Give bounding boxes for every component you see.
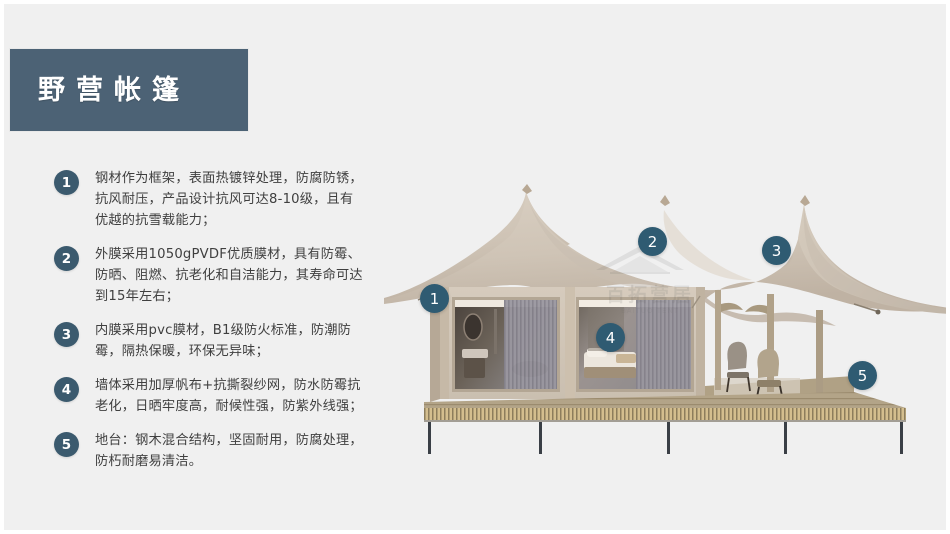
feature-badge-5: 5 [54,432,79,457]
tension-fitting-right [876,310,881,315]
list-item: 1 钢材作为框架，表面热镀锌处理，防腐防锈，抗风耐压，产品设计抗风可达8-10级… [54,168,384,231]
slide-root: 野营帐篷 1 钢材作为框架，表面热镀锌处理，防腐防锈，抗风耐压，产品设计抗风可达… [0,0,950,534]
callout-badge-1: 1 [420,284,449,313]
feature-list: 1 钢材作为框架，表面热镀锌处理，防腐防锈，抗风耐压，产品设计抗风可达8-10级… [54,168,384,485]
porch-pole-left [715,290,721,390]
porch-bracket-2 [745,305,767,314]
porch-pole-mid [767,294,774,392]
bathroom-cabinet [464,358,485,378]
tent-image [384,164,950,454]
deck-shadow-line [424,420,906,422]
callout-badge-2: 2 [638,227,667,256]
feature-badge-2: 2 [54,246,79,271]
bed-base [584,367,636,378]
list-item: 5 地台：钢木混合结构，坚固耐用，防腐处理，防朽耐磨易清洁。 [54,430,384,472]
title-block: 野营帐篷 [9,48,249,132]
feature-badge-4: 4 [54,377,79,402]
feature-badge-1: 1 [54,170,79,195]
porch-pole-right [816,310,823,394]
bathroom-vanity [462,349,488,358]
callout-badge-5: 5 [848,361,877,390]
platform-leg-5 [900,422,903,454]
feature-text-5: 地台：钢木混合结构，坚固耐用，防腐处理，防朽耐磨易清洁。 [95,430,363,472]
frame-post-right [696,287,705,399]
roof-highlight [664,210,752,280]
bathroom-mirror [464,314,482,340]
feature-text-1: 钢材作为框架，表面热镀锌处理，防腐防锈，抗风耐压，产品设计抗风可达8-10级，且… [95,168,363,231]
callout-badge-4: 4 [596,323,625,352]
list-item: 4 墙体采用加厚帆布+抗撕裂纱网，防水防霉抗老化，日晒牢度高，耐候性强，防紫外线… [54,375,384,417]
callout-badge-3: 3 [762,236,791,265]
porch-bracket-1 [721,303,743,312]
list-item: 3 内膜采用pvc膜材，B1级防火标准，防潮防霉，隔热保暖，环保无异味； [54,320,384,362]
feature-text-2: 外膜采用1050gPVDF优质膜材，具有防霉、防晒、阻燃、抗老化和自洁能力，其寿… [95,244,363,307]
platform-leg-1 [428,422,431,454]
bedroom-curtain [636,300,691,389]
feature-badge-3: 3 [54,322,79,347]
roof-peak-right [800,195,810,206]
roof-peak-center [660,195,670,206]
page-title: 野营帐篷 [10,77,190,104]
list-item: 2 外膜采用1050gPVDF优质膜材，具有防霉、防晒、阻燃、抗老化和自洁能力，… [54,244,384,307]
feature-text-4: 墙体采用加厚帆布+抗撕裂纱网，防水防霉抗老化，日晒牢度高，耐候性强，防紫外线强； [95,375,363,417]
bathroom-pipe [494,309,497,354]
platform-leg-4 [784,422,787,454]
frame-post-middle [565,287,575,399]
deck-edge-stripe [424,408,906,420]
tent-illustration: 百拓营居 BAITUO TENT 1 2 3 4 5 [384,164,950,454]
bed-throw [616,354,636,363]
platform-leg-3 [667,422,670,454]
feature-text-3: 内膜采用pvc膜材，B1级防火标准，防潮防霉，隔热保暖，环保无异味； [95,320,363,362]
roof-peak-left [522,184,532,194]
platform-leg-2 [539,422,542,454]
bathroom-curtain [504,300,557,389]
